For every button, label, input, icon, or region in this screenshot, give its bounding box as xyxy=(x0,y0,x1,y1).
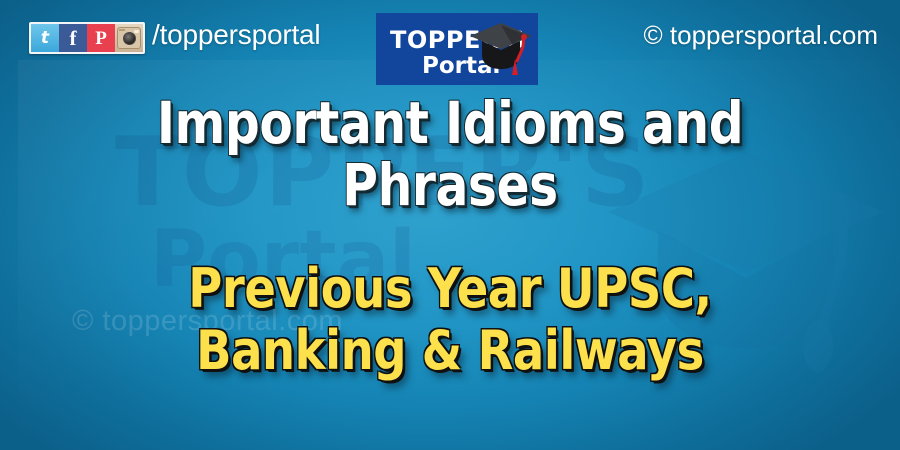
social-handle-text: /toppersportal xyxy=(152,19,320,51)
graduation-cap-icon xyxy=(468,17,536,79)
header-bar: t f P /toppersportal TOPPER'S Portal xyxy=(0,0,900,92)
facebook-glyph: f xyxy=(70,28,77,49)
instagram-camera-stripe xyxy=(119,29,125,31)
page-title-line-2: Phrases xyxy=(72,154,828,216)
instagram-camera-lens xyxy=(123,32,136,45)
page-subtitle-line-2: Banking & Railways xyxy=(63,320,837,382)
pinterest-glyph: P xyxy=(95,29,107,48)
page-subtitle: Previous Year UPSC, Banking & Railways xyxy=(0,258,900,382)
twitter-icon[interactable]: t xyxy=(31,24,59,52)
instagram-camera-body xyxy=(117,27,141,49)
instagram-icon[interactable] xyxy=(115,24,143,52)
pinterest-icon[interactable]: P xyxy=(87,24,115,52)
social-icon-group[interactable]: t f P xyxy=(29,22,145,54)
page-title: Important Idioms and Phrases xyxy=(0,92,900,216)
instagram-camera-flash xyxy=(134,30,139,33)
banner-image: TOPPER'S Portal © toppersportal.com t f xyxy=(0,0,900,450)
page-title-line-1: Important Idioms and xyxy=(72,92,828,154)
facebook-icon[interactable]: f xyxy=(59,24,87,52)
brand-logo[interactable]: TOPPER'S Portal xyxy=(376,13,538,85)
twitter-glyph: t xyxy=(41,30,49,47)
page-subtitle-line-1: Previous Year UPSC, xyxy=(63,258,837,320)
copyright-text: © toppersportal.com xyxy=(644,20,878,51)
